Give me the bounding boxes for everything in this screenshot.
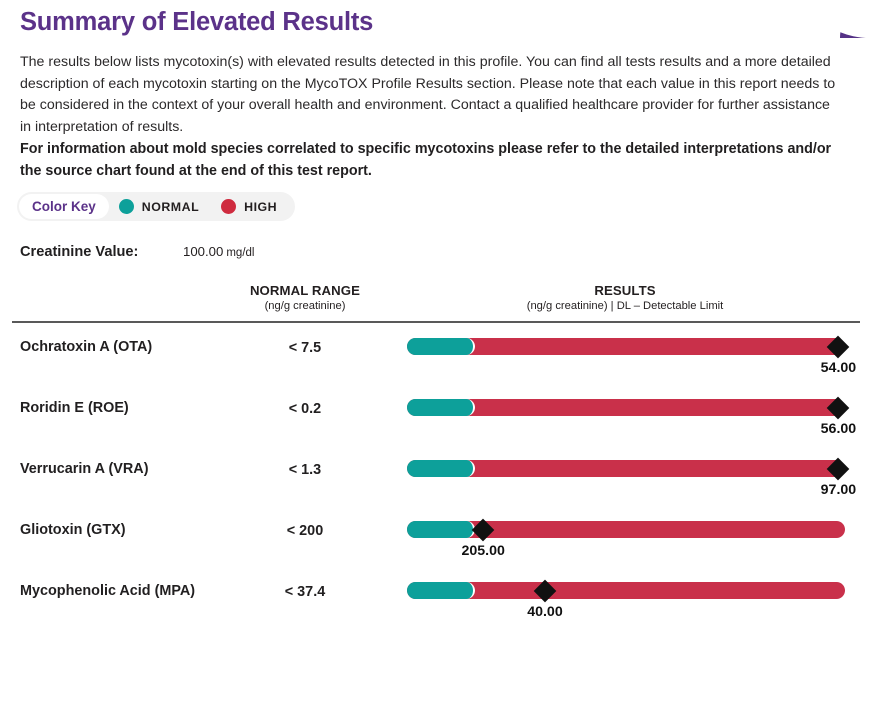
creatinine-unit: mg/dl <box>226 247 254 259</box>
column-header-normal-range: NORMAL RANGE (ng/g creatinine) <box>185 283 425 312</box>
table-row: Mycophenolic Acid (MPA)< 37.440.00 <box>0 580 884 641</box>
intro-bold-paragraph: For information about mold species corre… <box>20 138 842 182</box>
analyte-name: Gliotoxin (GTX) <box>20 522 126 538</box>
high-color-dot <box>221 199 236 214</box>
creatinine-row: Creatinine Value: 100.00 mg/dl <box>20 244 254 260</box>
column-header-results-title: RESULTS <box>425 283 825 298</box>
result-bar <box>407 521 845 538</box>
result-value: 56.00 <box>821 421 857 437</box>
result-bar <box>407 460 845 477</box>
legend-label-high: HIGH <box>244 200 277 214</box>
results-table: Ochratoxin A (OTA)< 7.554.00Roridin E (R… <box>0 336 884 641</box>
legend-entry-high: HIGH <box>221 199 277 214</box>
header-divider <box>12 321 860 323</box>
table-row: Gliotoxin (GTX)< 200205.00 <box>0 519 884 580</box>
result-bar-normal-segment <box>407 460 475 477</box>
legend-label-normal: NORMAL <box>142 200 199 214</box>
result-value: 40.00 <box>527 604 563 620</box>
color-key-label: Color Key <box>19 194 109 219</box>
result-bar-normal-segment <box>407 338 475 355</box>
legend-entry-normal: NORMAL <box>119 199 199 214</box>
normal-range-value: < 1.3 <box>185 462 425 478</box>
result-value: 205.00 <box>462 543 505 559</box>
table-row: Ochratoxin A (OTA)< 7.554.00 <box>0 336 884 397</box>
analyte-name: Roridin E (ROE) <box>20 400 129 416</box>
normal-range-value: < 37.4 <box>185 584 425 600</box>
analyte-name: Mycophenolic Acid (MPA) <box>20 583 195 599</box>
normal-range-value: < 0.2 <box>185 401 425 417</box>
result-value: 97.00 <box>821 482 857 498</box>
result-bar-normal-segment <box>407 399 475 416</box>
normal-range-value: < 200 <box>185 523 425 539</box>
normal-range-value: < 7.5 <box>185 340 425 356</box>
result-bar <box>407 399 845 416</box>
creatinine-label: Creatinine Value: <box>20 244 183 260</box>
column-header-normal-range-title: NORMAL RANGE <box>185 283 425 298</box>
corner-wedge-decoration <box>840 0 870 38</box>
result-bar <box>407 582 845 599</box>
analyte-name: Verrucarin A (VRA) <box>20 461 148 477</box>
result-bar-normal-segment <box>407 521 475 538</box>
normal-color-dot <box>119 199 134 214</box>
result-bar <box>407 338 845 355</box>
column-header-normal-range-subtitle: (ng/g creatinine) <box>185 300 425 312</box>
result-value: 54.00 <box>821 360 857 376</box>
analyte-name: Ochratoxin A (OTA) <box>20 339 152 355</box>
column-header-results-subtitle: (ng/g creatinine) | DL – Detectable Limi… <box>425 300 825 312</box>
page-title: Summary of Elevated Results <box>20 8 373 37</box>
intro-paragraph: The results below lists mycotoxin(s) wit… <box>20 52 842 138</box>
color-key-legend: Color Key NORMAL HIGH <box>17 192 295 221</box>
table-row: Verrucarin A (VRA)< 1.397.00 <box>0 458 884 519</box>
column-header-results: RESULTS (ng/g creatinine) | DL – Detecta… <box>425 283 825 312</box>
table-row: Roridin E (ROE)< 0.256.00 <box>0 397 884 458</box>
result-bar-normal-segment <box>407 582 475 599</box>
creatinine-value: 100.00 <box>183 244 223 259</box>
